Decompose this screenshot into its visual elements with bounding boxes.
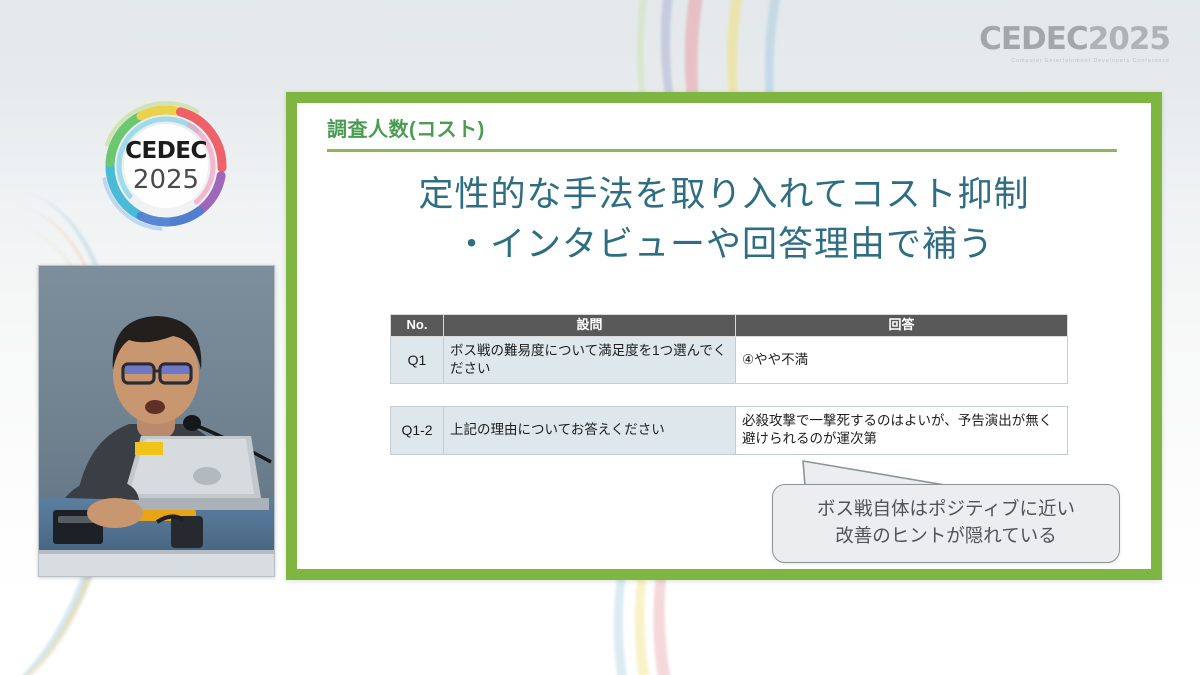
- slide-main-heading-line1: 定性的な手法を取り入れてコスト抑制: [419, 175, 1030, 215]
- insight-callout: ボス戦自体はポジティブに近い 改善のヒントが隠れている: [772, 484, 1120, 563]
- row-answer: ④やや不満: [736, 337, 1068, 384]
- row-answer: 必殺攻撃で一撃死するのはよいが、予告演出が無く避けられるのが運次第: [736, 407, 1068, 454]
- insight-callout-line2: 改善のヒントが隠れている: [787, 523, 1105, 550]
- row-question: 上記の理由についてお答えください: [444, 407, 736, 454]
- table-header-row: No. 設問 回答: [391, 315, 1068, 337]
- column-header-question: 設問: [444, 315, 736, 337]
- cedec-round-logo-name: CEDEC: [125, 140, 207, 163]
- slide-section-header: 調査人数(コスト): [327, 118, 1117, 152]
- cedec-header-logo-name: CEDEC: [979, 21, 1088, 57]
- slide-section-header-rule: [327, 149, 1117, 152]
- presentation-stage: CEDEC2025 Computer Entertainment Develop…: [0, 0, 1200, 675]
- table-spacer-row: [391, 384, 1068, 407]
- cedec-round-logo: CEDEC 2025: [100, 100, 232, 232]
- row-no: Q1-2: [391, 407, 444, 454]
- speaker-video-thumbnail[interactable]: [38, 265, 275, 577]
- cedec-header-logo-year: 2025: [1088, 21, 1170, 57]
- insight-callout-body: ボス戦自体はポジティブに近い 改善のヒントが隠れている: [772, 484, 1120, 563]
- column-header-answer: 回答: [736, 315, 1068, 337]
- table-row: Q1 ボス戦の難易度について満足度を1つ選んでください ④やや不満: [391, 337, 1068, 384]
- slide-main-heading: 定性的な手法を取り入れてコスト抑制 ・インタビューや回答理由で補う: [297, 171, 1151, 270]
- row-question: ボス戦の難易度について満足度を1つ選んでください: [444, 337, 736, 384]
- slide-main-heading-line2: ・インタビューや回答理由で補う: [297, 221, 1151, 271]
- cedec-round-logo-year: 2025: [133, 167, 199, 193]
- survey-qa-table: No. 設問 回答 Q1 ボス戦の難易度について満足度を1つ選んでください ④や…: [390, 314, 1068, 455]
- slide-section-header-text: 調査人数(コスト): [327, 118, 1117, 142]
- column-header-no: No.: [391, 315, 444, 337]
- insight-callout-line1: ボス戦自体はポジティブに近い: [787, 496, 1105, 523]
- row-no: Q1: [391, 337, 444, 384]
- speaker-photo: [39, 266, 274, 576]
- cedec-header-logo-subtitle: Computer Entertainment Developers Confer…: [979, 58, 1170, 64]
- callout-tail-icon: [797, 459, 947, 487]
- cedec-header-logo: CEDEC2025 Computer Entertainment Develop…: [979, 24, 1170, 64]
- presentation-slide: 調査人数(コスト) 定性的な手法を取り入れてコスト抑制 ・インタビューや回答理由…: [286, 92, 1162, 580]
- table-row: Q1-2 上記の理由についてお答えください 必殺攻撃で一撃死するのはよいが、予告…: [391, 407, 1068, 454]
